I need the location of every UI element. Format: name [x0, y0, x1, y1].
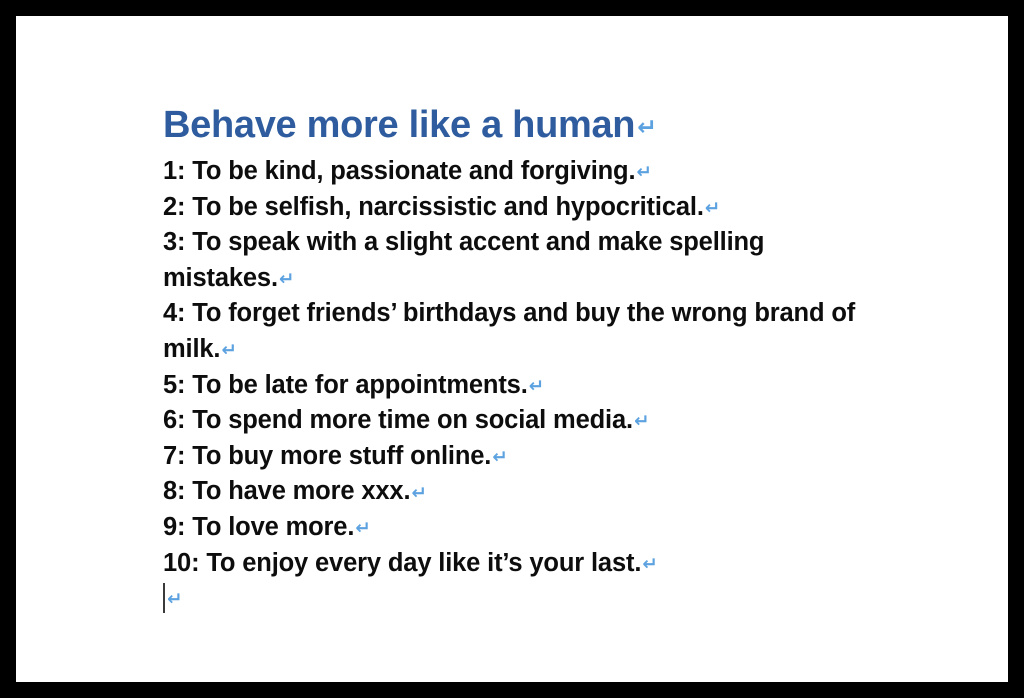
list-item: 9: To love more.↵ — [163, 510, 883, 546]
list-item-text: 1: To be kind, passionate and forgiving. — [163, 157, 635, 185]
list-item-text: 9: To love more. — [163, 513, 354, 541]
list-item-text: 4: To forget friends’ birthdays and buy … — [163, 299, 855, 363]
return-mark-icon: ↵ — [279, 271, 294, 289]
list-item-text: 10: To enjoy every day like it’s your la… — [163, 549, 641, 577]
list-item: 3: To speak with a slight accent and mak… — [163, 225, 883, 296]
return-mark-icon: ↵ — [492, 449, 507, 467]
list-item: 6: To spend more time on social media.↵ — [163, 403, 883, 439]
text-caret — [163, 583, 165, 613]
list-item: 4: To forget friends’ birthdays and buy … — [163, 296, 883, 367]
list-item: 1: To be kind, passionate and forgiving.… — [163, 154, 883, 190]
return-mark-icon: ↵ — [167, 591, 182, 609]
list-item-text: 2: To be selfish, narcissistic and hypoc… — [163, 193, 704, 221]
screenshot-frame: Behave more like a human↵ 1: To be kind,… — [0, 0, 1024, 698]
empty-paragraph[interactable]: ↵ — [163, 581, 883, 617]
page-title-text: Behave more like a human — [163, 104, 635, 146]
document-text-block[interactable]: Behave more like a human↵ 1: To be kind,… — [163, 100, 883, 617]
page-title: Behave more like a human↵ — [163, 100, 883, 150]
list-item-text: 7: To buy more stuff online. — [163, 442, 491, 470]
document-canvas[interactable]: Behave more like a human↵ 1: To be kind,… — [16, 16, 1008, 682]
list-item: 5: To be late for appointments.↵ — [163, 368, 883, 404]
return-mark-icon: ↵ — [355, 520, 370, 538]
return-mark-icon: ↵ — [221, 342, 236, 360]
return-mark-icon: ↵ — [529, 378, 544, 396]
list-item: 10: To enjoy every day like it’s your la… — [163, 546, 883, 582]
list-item-text: 6: To spend more time on social media. — [163, 406, 633, 434]
return-mark-icon: ↵ — [637, 116, 656, 140]
return-mark-icon: ↵ — [411, 485, 426, 503]
return-mark-icon: ↵ — [642, 556, 657, 574]
list-item: 2: To be selfish, narcissistic and hypoc… — [163, 190, 883, 226]
return-mark-icon: ↵ — [636, 164, 651, 182]
return-mark-icon: ↵ — [705, 200, 720, 218]
list-item-text: 8: To have more xxx. — [163, 477, 410, 505]
return-mark-icon: ↵ — [634, 413, 649, 431]
list-item-text: 5: To be late for appointments. — [163, 371, 528, 399]
list-item: 8: To have more xxx.↵ — [163, 474, 883, 510]
list-item-text: 3: To speak with a slight accent and mak… — [163, 228, 764, 292]
list-item: 7: To buy more stuff online.↵ — [163, 439, 883, 475]
